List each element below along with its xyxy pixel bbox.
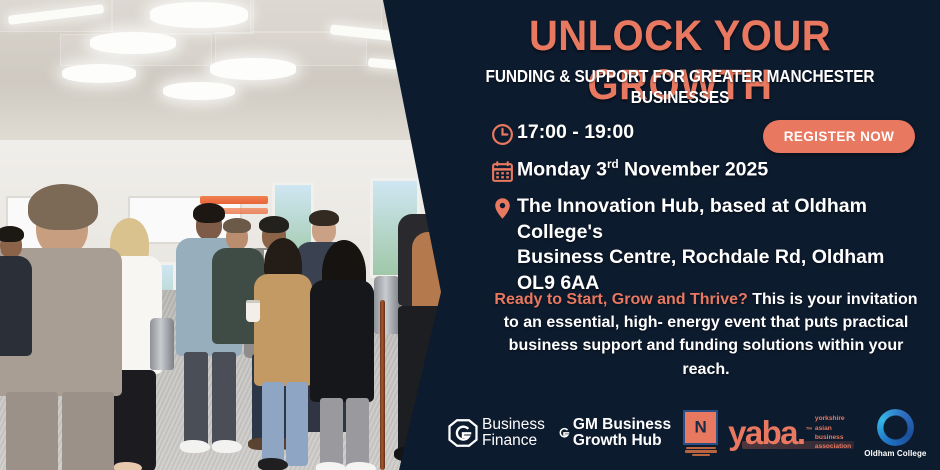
gm-growth-hub-line1: GM Business	[573, 417, 671, 433]
north-letter: N	[685, 419, 716, 436]
business-finance-line1: Business	[482, 417, 545, 433]
yaba-sub-line: yorkshire	[815, 414, 851, 423]
yaba-sub-line: asian	[815, 424, 851, 433]
event-time: 17:00 - 19:00	[517, 120, 634, 146]
detail-row-date: Monday 3rd November 2025	[487, 157, 917, 184]
caption-line	[686, 447, 716, 449]
detail-row-location: The Innovation Hub, based at Oldham Coll…	[487, 194, 917, 297]
business-finance-mark-icon	[448, 418, 478, 448]
event-location-line1: The Innovation Hub, based at Oldham Coll…	[517, 194, 917, 245]
business-finance-wordmark: Business Finance	[482, 417, 545, 449]
gm-growth-hub-wordmark: GM Business Growth Hub	[573, 417, 671, 449]
banner-content: UNLOCK YOUR GROWTH FUNDING & SUPPORT FOR…	[0, 0, 940, 470]
event-date-suffix: November 2025	[619, 159, 769, 181]
event-banner: UNLOCK YOUR GROWTH FUNDING & SUPPORT FOR…	[0, 0, 940, 470]
location-pin-icon	[487, 194, 517, 221]
oldham-college-logo: Oldham College	[864, 409, 926, 458]
oldham-college-label: Oldham College	[864, 449, 926, 458]
yaba-trademark: ™	[806, 427, 811, 434]
growth-hub-mark-icon	[557, 426, 571, 440]
clock-icon	[487, 120, 517, 147]
yaba-tagline	[742, 441, 854, 449]
event-description-highlight: Ready to Start, Grow and Thrive?	[494, 291, 747, 308]
caption-line	[692, 454, 710, 456]
gm-growth-hub-line2: Growth Hub	[573, 433, 671, 449]
oldham-college-ring-icon	[877, 409, 914, 446]
business-finance-line2: Finance	[482, 433, 545, 449]
partner-logo-bar: Business Finance GM Business Growth Hub …	[448, 400, 934, 466]
calendar-icon	[487, 157, 517, 184]
business-finance-logo: Business Finance	[448, 417, 545, 449]
event-date-prefix: Monday 3	[517, 159, 607, 181]
detail-row-time: 17:00 - 19:00	[487, 120, 917, 147]
event-date-ordinal: rd	[607, 158, 619, 171]
north-logo-caption	[683, 447, 718, 457]
north-mark-icon: N	[683, 410, 718, 445]
event-location: The Innovation Hub, based at Oldham Coll…	[517, 194, 917, 297]
event-date: Monday 3rd November 2025	[517, 157, 768, 183]
north-logo: N	[683, 410, 718, 457]
event-details-list: 17:00 - 19:00	[487, 120, 917, 307]
page-subtitle: FUNDING & SUPPORT FOR GREATER MANCHESTER…	[458, 66, 902, 108]
event-description: Ready to Start, Grow and Thrive? This is…	[492, 288, 920, 381]
caption-line	[685, 450, 717, 452]
gm-business-growth-hub-logo: GM Business Growth Hub	[557, 417, 671, 449]
